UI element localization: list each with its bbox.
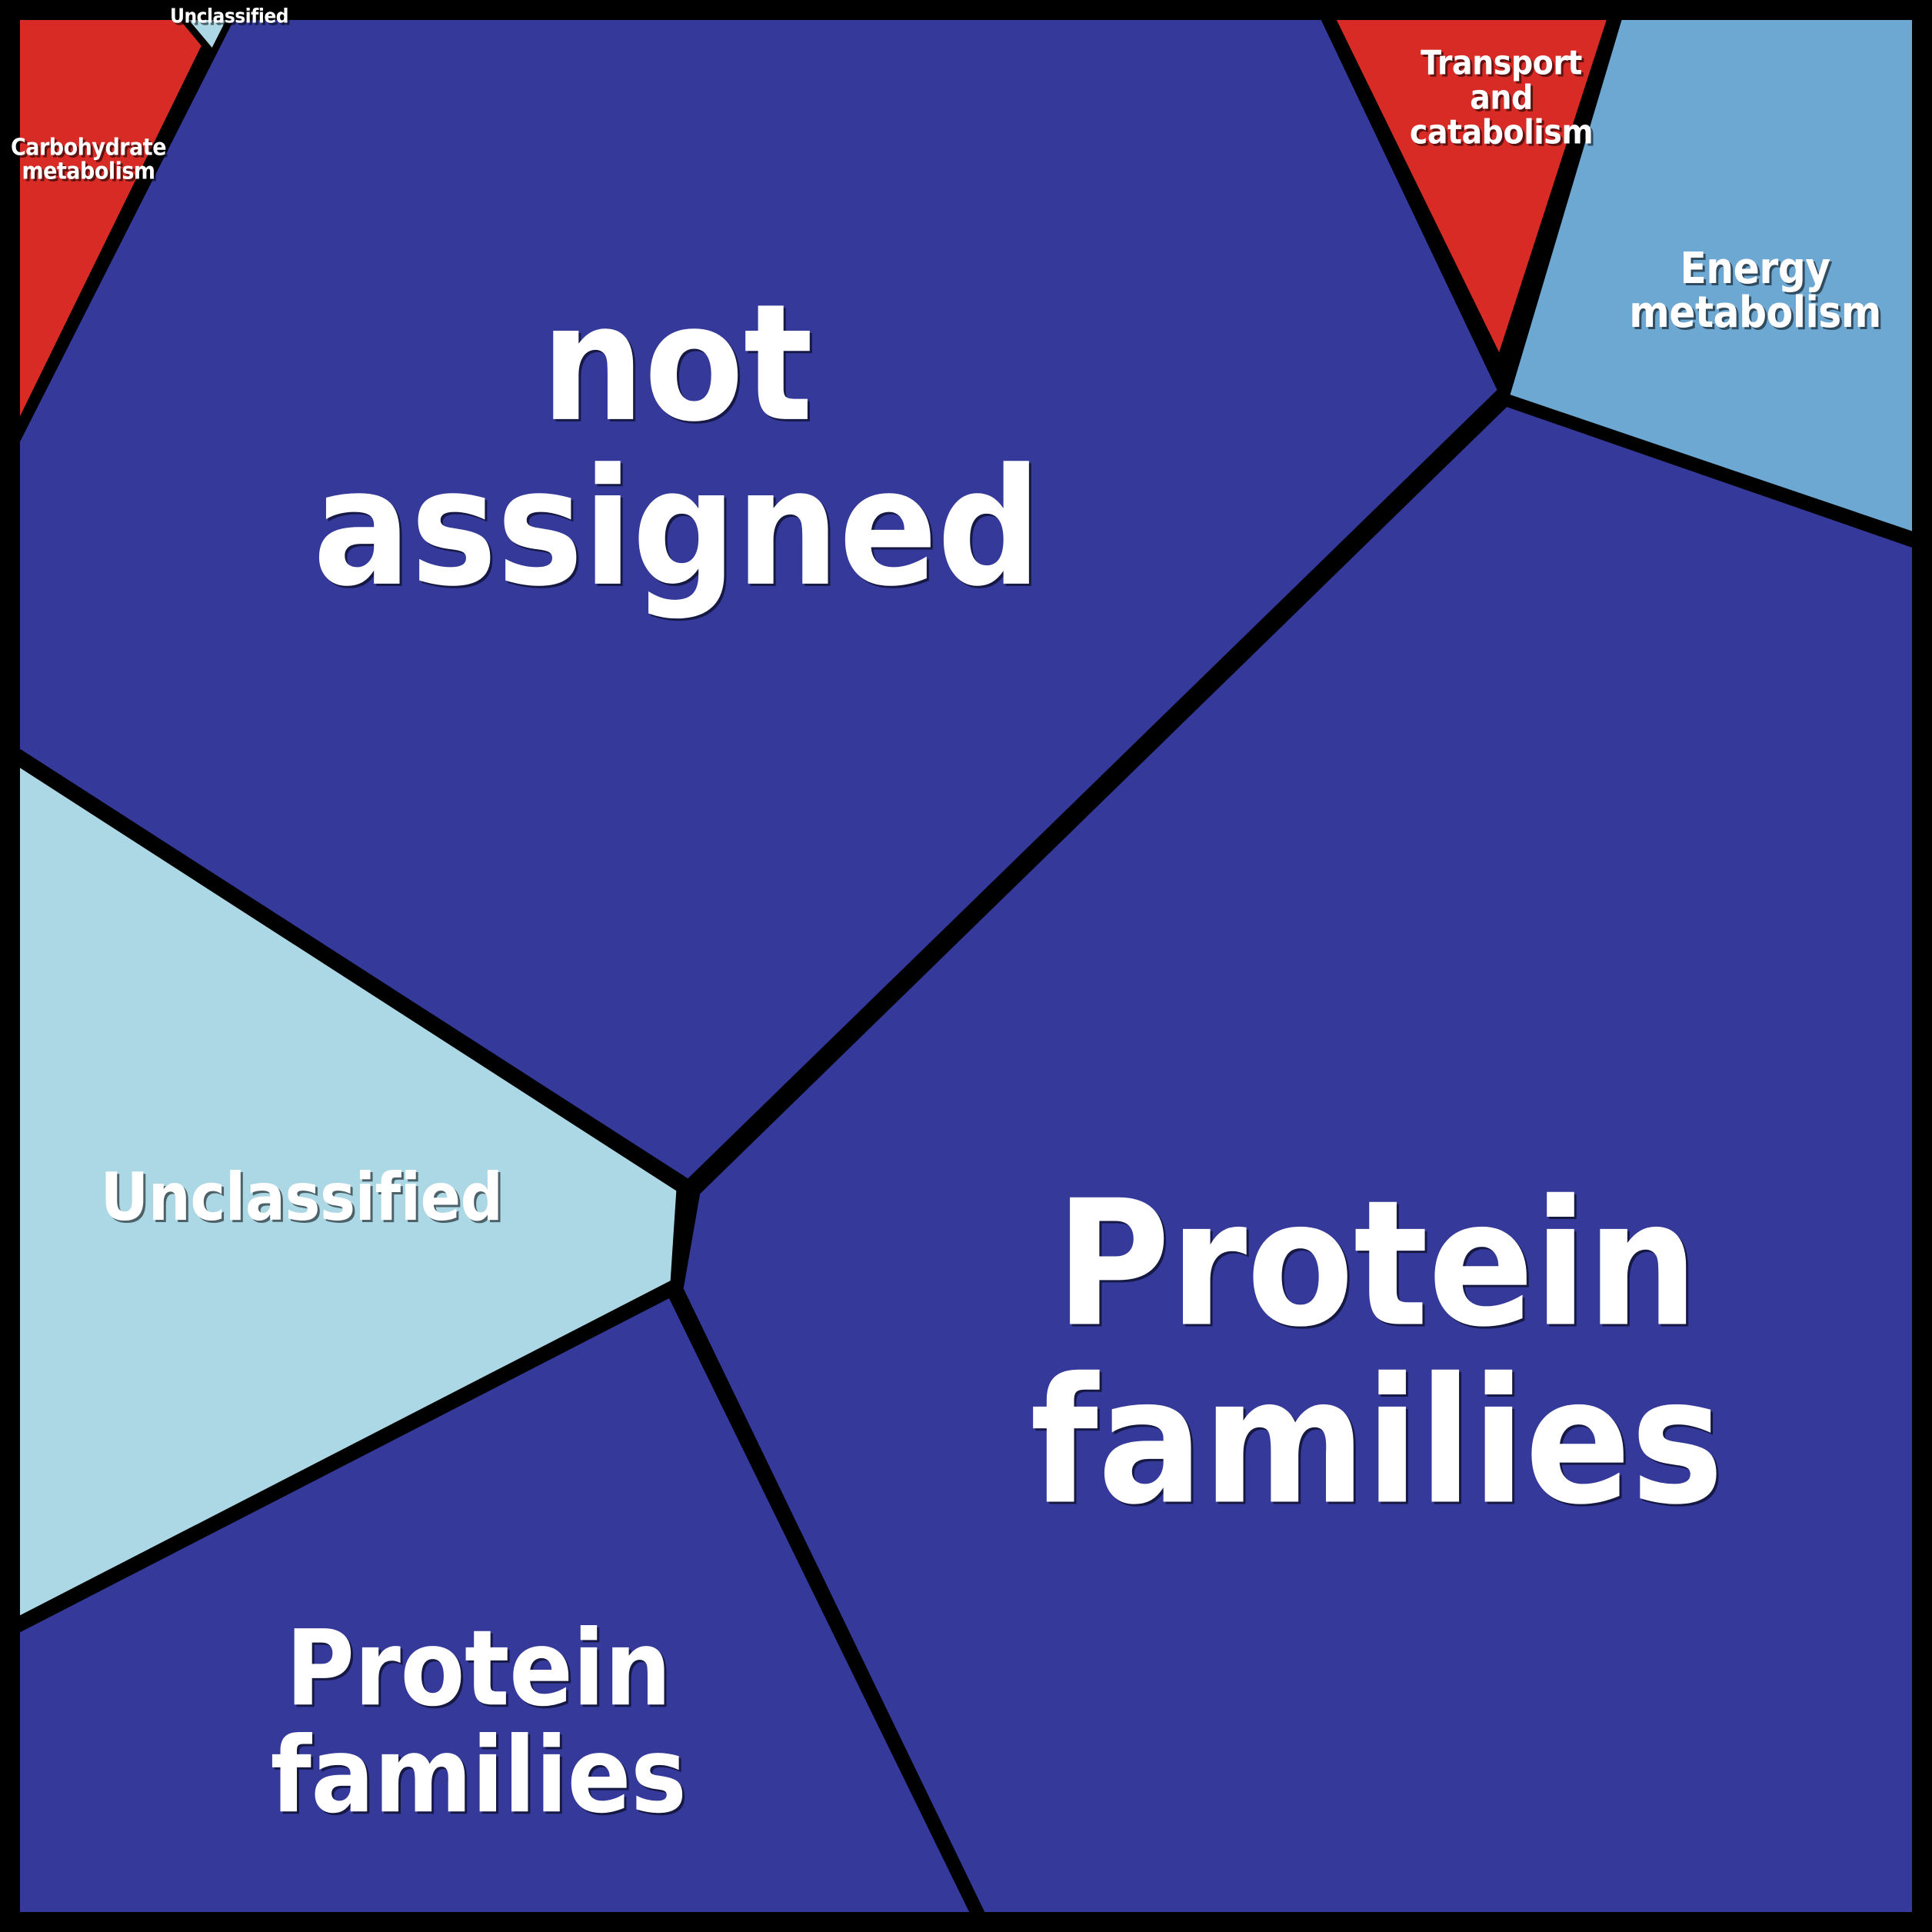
voronoi-cell-group (9, 9, 1923, 1923)
voronoi-treemap: Carbohydrate metabolismUnclassifiednot a… (0, 0, 1932, 1932)
voronoi-svg-canvas (0, 0, 1932, 1932)
